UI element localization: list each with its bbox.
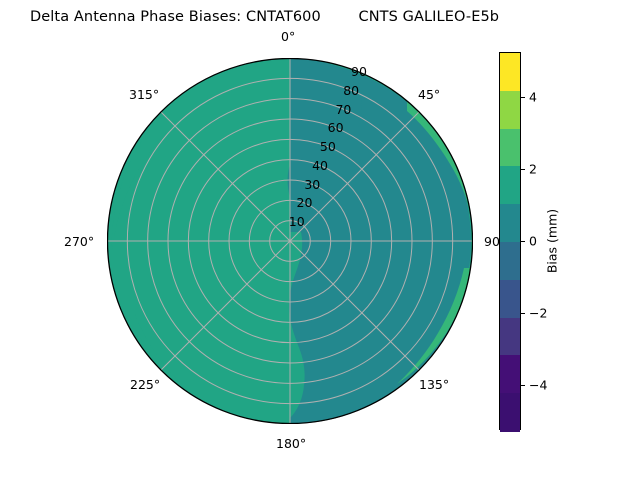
colorbar-tick-mark-1 — [521, 169, 525, 170]
colorbar-tick-label-4: −4 — [529, 378, 547, 393]
angular-tick-135: 135° — [419, 377, 449, 392]
colorbar-tick-mark-2 — [521, 241, 525, 242]
colorbar-band-5 — [500, 242, 520, 280]
colorbar-band-7 — [500, 318, 520, 356]
colorbar-band-3 — [500, 166, 520, 204]
radial-tick-90: 90 — [351, 64, 367, 79]
angular-tick-225: 225° — [130, 377, 160, 392]
colorbar-band-1 — [500, 91, 520, 129]
polar-plot — [107, 58, 473, 424]
colorbar-band-9 — [500, 393, 520, 431]
colorbar — [499, 52, 521, 430]
radial-tick-30: 30 — [304, 177, 320, 192]
radial-tick-60: 60 — [328, 120, 344, 135]
colorbar-band-6 — [500, 280, 520, 318]
colorbar-tick-mark-4 — [521, 385, 525, 386]
colorbar-tick-label-1: 2 — [529, 162, 537, 177]
colorbar-tick-label-3: −2 — [529, 306, 547, 321]
radial-tick-10: 10 — [289, 214, 305, 229]
angular-tick-315: 315° — [129, 87, 159, 102]
colorbar-band-2 — [500, 129, 520, 167]
radial-tick-80: 80 — [343, 83, 359, 98]
colorbar-band-8 — [500, 355, 520, 393]
figure-canvas: Delta Antenna Phase Biases: CNTAT600 CNT… — [0, 0, 640, 480]
radial-tick-50: 50 — [320, 139, 336, 154]
page-title: Delta Antenna Phase Biases: CNTAT600 CNT… — [30, 9, 499, 25]
colorbar-tick-mark-0 — [521, 97, 525, 98]
radial-tick-40: 40 — [312, 158, 328, 173]
colorbar-tick-label-2: 0 — [529, 234, 537, 249]
colorbar-gradient — [499, 52, 521, 430]
angular-tick-180: 180° — [276, 436, 306, 451]
polar-angular-grid — [107, 58, 473, 424]
angular-tick-270: 270° — [64, 234, 94, 249]
radial-tick-70: 70 — [335, 102, 351, 117]
colorbar-tick-mark-3 — [521, 313, 525, 314]
angular-tick-0: 0° — [281, 29, 295, 44]
angular-tick-90: 90 — [484, 234, 500, 249]
colorbar-tick-label-0: 4 — [529, 90, 537, 105]
polar-plot-svg — [107, 58, 473, 424]
colorbar-band-0 — [500, 53, 520, 91]
colorbar-band-4 — [500, 204, 520, 242]
angular-tick-45: 45° — [418, 87, 440, 102]
colorbar-axis-label: Bias (mm) — [545, 209, 560, 273]
radial-tick-20: 20 — [297, 195, 313, 210]
